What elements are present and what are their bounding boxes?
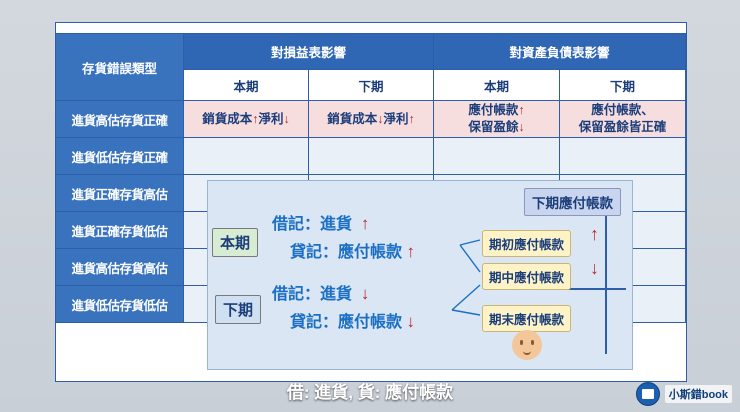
ap-arrow-up: ↑ xyxy=(590,224,599,245)
watermark: 小斯錯book xyxy=(636,382,732,406)
row-label-5: 進貨高估存貨高估 xyxy=(56,249,184,286)
sub-header-is-current: 本期 xyxy=(184,70,309,101)
group-header-income-statement: 對損益表影響 xyxy=(184,34,434,70)
ap-box-middle: 期中應付帳款 xyxy=(482,263,571,290)
table-row: 進貨低估存貨正確 xyxy=(56,138,686,175)
sub-header-bs-current: 本期 xyxy=(434,70,560,101)
cell-r2c3 xyxy=(434,138,560,175)
slide-background: 存貨錯誤類型 對損益表影響 對資產負債表影響 本期 下期 本期 下期 進貨高估存… xyxy=(0,0,740,412)
smiley-eye-left xyxy=(520,340,523,345)
table-corner-label: 存貨錯誤類型 xyxy=(56,34,184,101)
cell-r1c3: 應付帳款↑保留盈餘↓ xyxy=(434,101,560,138)
badge-next-period: 下期 xyxy=(215,295,261,324)
caption-text: 借: 進貨, 貨: 應付帳款 xyxy=(0,378,740,403)
journal-entry-1-debit: 借記：進貨 ↑ xyxy=(272,210,369,234)
cell-r2c1 xyxy=(184,138,309,175)
t-account-vertical-line xyxy=(605,196,607,354)
table-row: 進貨高估存貨正確 銷貨成本↑淨利↓ 銷貨成本↓淨利↑ 應付帳款↑保留盈餘↓ 應付… xyxy=(56,101,686,138)
smiley-mouth xyxy=(523,349,531,355)
sub-header-bs-next: 下期 xyxy=(560,70,686,101)
table-group-header-row: 存貨錯誤類型 對損益表影響 對資產負債表影響 xyxy=(56,34,686,70)
ap-arrow-down: ↓ xyxy=(590,258,599,279)
ap-box-ending: 期末應付帳款 xyxy=(482,305,571,332)
row-label-1: 進貨高估存貨正確 xyxy=(56,101,184,138)
cell-r2c4 xyxy=(560,138,686,175)
watermark-label: 小斯錯book xyxy=(665,385,732,403)
journal-entry-2-debit: 借記：進貨 ↓ xyxy=(272,280,369,304)
cell-r1c4: 應付帳款、保留盈餘皆正確 xyxy=(560,101,686,138)
row-label-2: 進貨低估存貨正確 xyxy=(56,138,184,175)
cell-r1c1: 銷貨成本↑淨利↓ xyxy=(184,101,309,138)
cell-r1c2: 銷貨成本↓淨利↑ xyxy=(309,101,434,138)
smiley-eye-right xyxy=(531,340,534,345)
ap-box-beginning: 期初應付帳款 xyxy=(482,230,571,257)
badge-current-period: 本期 xyxy=(212,228,258,257)
journal-entry-1-credit: 貸記：應付帳款 ↑ xyxy=(290,238,415,262)
watermark-logo-icon xyxy=(636,382,660,406)
cell-r2c2 xyxy=(309,138,434,175)
group-header-balance-sheet: 對資產負債表影響 xyxy=(434,34,686,70)
row-label-6: 進貨低估存貨低估 xyxy=(56,286,184,323)
badge-next-period-accounts-payable: 下期應付帳款 xyxy=(524,188,621,216)
journal-entry-2-credit: 貸記：應付帳款 ↓ xyxy=(290,308,415,332)
row-label-4: 進貨正確存貨低估 xyxy=(56,212,184,249)
smiley-face-icon xyxy=(512,330,542,360)
sub-header-is-next: 下期 xyxy=(309,70,434,101)
row-label-3: 進貨正確存貨高估 xyxy=(56,175,184,212)
